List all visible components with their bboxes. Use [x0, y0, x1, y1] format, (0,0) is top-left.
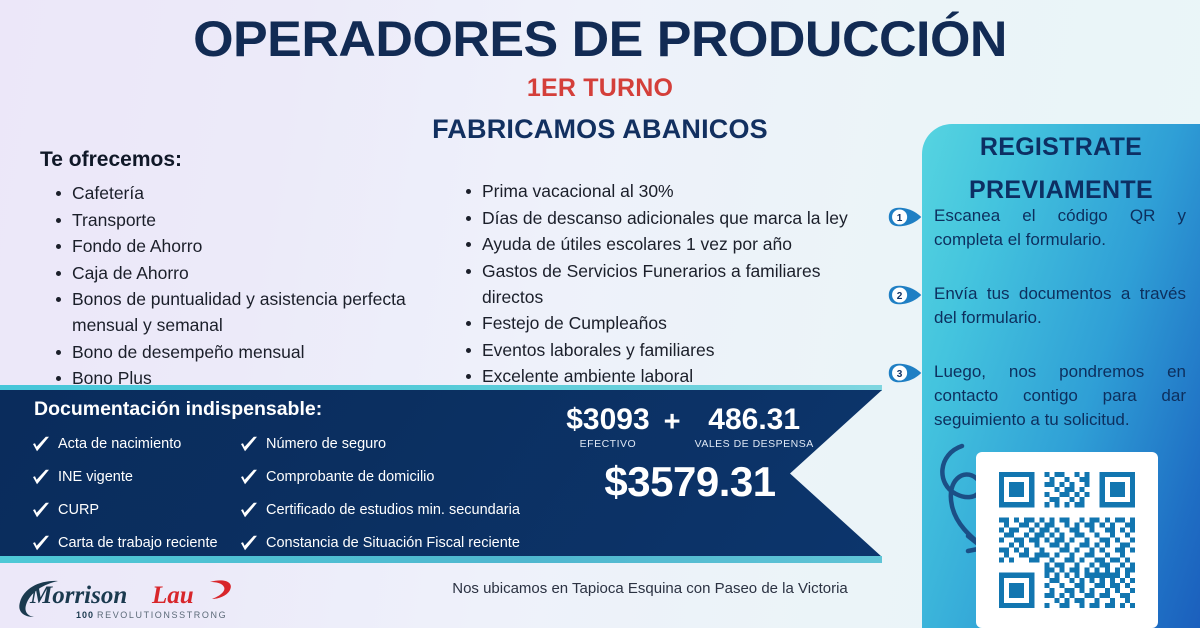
registration-title: REGISTRATE PREVIAMENTE	[922, 126, 1200, 212]
address-text: Nos ubicamos en Tapioca Esquina con Pase…	[380, 580, 920, 597]
list-item: Festejo de Cumpleaños	[462, 310, 882, 336]
registration-step-text: Escanea el código QR y completa el formu…	[934, 204, 1200, 252]
list-item: Prima vacacional al 30%	[462, 178, 882, 204]
company-logo: Morrison Lau 100 REVOLUTIONSSTRONG	[14, 572, 276, 624]
benefits-heading: Te ofrecemos:	[40, 148, 182, 172]
logo-text-secondary: Lau	[151, 582, 194, 609]
document-item: Número de seguro	[240, 427, 580, 460]
salary-cash-label: EFECTIVO	[566, 438, 649, 450]
salary-breakdown: $3093 EFECTIVO + 486.31 VALES DE DESPENS…	[540, 404, 840, 450]
document-label: Constancia de Situación Fiscal reciente	[266, 535, 520, 551]
registration-step-text: Luego, nos pondremos en contacto contigo…	[934, 360, 1200, 432]
step-number-badge-icon: 3	[888, 362, 922, 384]
document-item: CURP	[32, 493, 247, 526]
salary-total-amount: $3579.31	[540, 458, 840, 506]
document-label: Carta de trabajo reciente	[58, 535, 218, 551]
benefits-column-left: Cafetería Transporte Fondo de Ahorro Caj…	[52, 180, 437, 392]
salary-vouchers: 486.31 VALES DE DESPENSA	[695, 404, 814, 450]
documents-column-b: Número de seguro Comprobante de domicili…	[240, 427, 580, 559]
list-item: Fondo de Ahorro	[52, 233, 437, 259]
step-number-badge-icon: 1	[888, 206, 922, 228]
check-icon	[32, 535, 50, 551]
list-item: Transporte	[52, 207, 437, 233]
document-item: Constancia de Situación Fiscal reciente	[240, 526, 580, 559]
list-item: Gastos de Servicios Funerarios a familia…	[462, 258, 882, 310]
check-icon	[32, 502, 50, 518]
documents-heading: Documentación indispensable:	[34, 398, 322, 421]
document-item: Comprobante de domicilio	[240, 460, 580, 493]
logo-tagline-rest: REVOLUTIONSSTRONG	[97, 610, 227, 620]
document-label: CURP	[58, 502, 99, 518]
document-label: Número de seguro	[266, 436, 386, 452]
document-item: INE vigente	[32, 460, 247, 493]
document-item: Acta de nacimiento	[32, 427, 247, 460]
document-label: INE vigente	[58, 469, 133, 485]
document-item: Certificado de estudios min. secundaria	[240, 493, 580, 526]
step-number-badge-icon: 2	[888, 284, 922, 306]
document-label: Certificado de estudios min. secundaria	[266, 502, 520, 518]
list-item: Días de descanso adicionales que marca l…	[462, 205, 882, 231]
shift-subtitle: 1ER TURNO	[0, 74, 1200, 103]
check-icon	[32, 436, 50, 452]
salary-cash-amount: $3093	[566, 404, 649, 436]
document-label: Comprobante de domicilio	[266, 469, 434, 485]
svg-text:2: 2	[897, 291, 903, 302]
check-icon	[240, 535, 258, 551]
check-icon	[32, 469, 50, 485]
registration-step-text: Envía tus documentos a través del formul…	[934, 282, 1200, 330]
check-icon	[240, 469, 258, 485]
registration-steps: 1 Escanea el código QR y completa el for…	[888, 204, 1200, 438]
benefits-column-right: Prima vacacional al 30% Días de descanso…	[462, 178, 882, 390]
svg-text:3: 3	[897, 369, 903, 380]
logo-text-primary: Morrison	[29, 582, 127, 609]
list-item: Caja de Ahorro	[52, 260, 437, 286]
salary-block: $3093 EFECTIVO + 486.31 VALES DE DESPENS…	[540, 404, 840, 506]
page-title: OPERADORES DE PRODUCCIÓN	[0, 14, 1200, 65]
benefits-list-right: Prima vacacional al 30% Días de descanso…	[462, 178, 882, 389]
document-label: Acta de nacimiento	[58, 436, 181, 452]
list-item: Bonos de puntualidad y asistencia perfec…	[52, 286, 437, 338]
list-item: Bono de desempeño mensual	[52, 339, 437, 365]
salary-plus-sign: +	[664, 404, 681, 439]
list-item: Ayuda de útiles escolares 1 vez por año	[462, 231, 882, 257]
qr-code-image[interactable]	[994, 467, 1140, 613]
document-item: Carta de trabajo reciente	[32, 526, 247, 559]
salary-vouchers-amount: 486.31	[695, 404, 814, 436]
documents-column-a: Acta de nacimiento INE vigente CURP Cart…	[32, 427, 247, 559]
qr-code[interactable]	[976, 452, 1158, 628]
registration-step: 3 Luego, nos pondremos en contacto conti…	[888, 360, 1200, 432]
check-icon	[240, 436, 258, 452]
benefits-list-left: Cafetería Transporte Fondo de Ahorro Caj…	[52, 180, 437, 391]
registration-step: 1 Escanea el código QR y completa el for…	[888, 204, 1200, 276]
list-item: Eventos laborales y familiares	[462, 337, 882, 363]
list-item: Cafetería	[52, 180, 437, 206]
salary-cash: $3093 EFECTIVO	[566, 404, 649, 450]
registration-title-line1: REGISTRATE	[922, 126, 1200, 169]
salary-vouchers-label: VALES DE DESPENSA	[695, 438, 814, 450]
check-icon	[240, 502, 258, 518]
svg-text:1: 1	[897, 213, 903, 224]
logo-tagline-bold: 100	[76, 610, 94, 620]
registration-step: 2 Envía tus documentos a través del form…	[888, 282, 1200, 354]
